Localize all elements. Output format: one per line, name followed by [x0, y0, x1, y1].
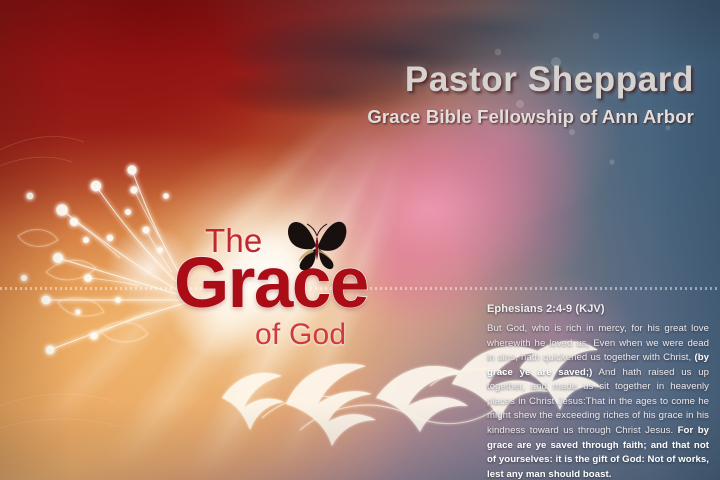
page-subtitle: Grace Bible Fellowship of Ann Arbor: [0, 106, 694, 128]
page-title: Pastor Sheppard: [0, 62, 694, 99]
slide-canvas: Pastor Sheppard Grace Bible Fellowship o…: [0, 0, 720, 480]
scripture-block: Ephesians 2:4-9 (KJV) But God, who is ri…: [487, 303, 709, 480]
logo-line-of-god: of God: [255, 318, 346, 352]
scripture-reference: Ephesians 2:4-9 (KJV): [487, 303, 709, 315]
header-block: Pastor Sheppard Grace Bible Fellowship o…: [0, 62, 694, 128]
butterfly-icon: [286, 216, 348, 272]
scripture-body: But God, who is rich in mercy, for his g…: [487, 322, 709, 480]
grace-of-god-logo: The Grace of God: [174, 222, 384, 350]
